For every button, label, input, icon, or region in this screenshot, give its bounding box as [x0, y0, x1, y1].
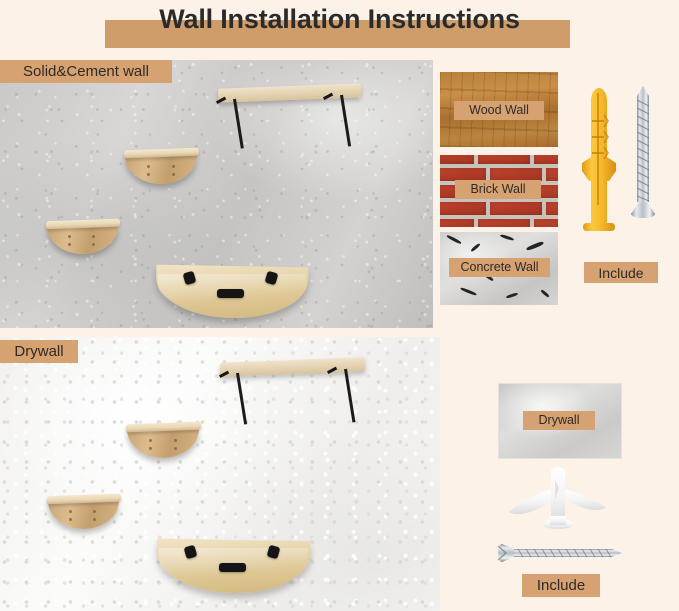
- perch-body: [127, 429, 199, 458]
- perch-screw-hole: [174, 439, 177, 442]
- cat-perch-lower: [48, 495, 119, 529]
- perch-screw-hole: [172, 165, 175, 168]
- perch-screw-hole: [149, 447, 152, 450]
- photo-solid-cement-wall: [0, 60, 433, 328]
- perch-screw-hole: [69, 518, 72, 521]
- perch-screw-hole: [174, 447, 177, 450]
- perch-screw-hole: [172, 173, 175, 176]
- perch-screw-hole: [93, 518, 96, 521]
- perch-body: [48, 501, 119, 529]
- page-title: Wall Installation Instructions: [0, 0, 679, 38]
- cat-bridge: [157, 540, 310, 593]
- perch-screw-hole: [147, 173, 150, 176]
- wall-shelf: [218, 86, 361, 144]
- perch-body: [125, 155, 197, 184]
- bridge-foot: [217, 289, 244, 298]
- perch-screw-hole: [68, 243, 71, 246]
- cat-bridge: [156, 266, 308, 318]
- perch-body: [47, 226, 118, 254]
- perch-screw-hole: [147, 165, 150, 168]
- shelf-plank: [218, 83, 361, 102]
- shelf-bracket-right: [340, 95, 351, 147]
- shelf-bracket-right: [344, 369, 355, 423]
- label-brick-wall: Brick Wall: [455, 180, 541, 199]
- perch-screw-hole: [68, 235, 71, 238]
- bridge-foot: [219, 563, 246, 572]
- label-solid-cement-wall: Solid&Cement wall: [0, 60, 172, 83]
- white-toggle-anchor-icon: [498, 466, 618, 540]
- label-wood-wall: Wood Wall: [454, 101, 544, 120]
- label-drywall-swatch: Drywall: [523, 411, 595, 430]
- cat-perch-upper: [125, 149, 197, 184]
- yellow-wall-anchor-icon: [578, 85, 620, 233]
- cat-perch-lower: [47, 220, 118, 254]
- shelf-plank: [220, 357, 365, 377]
- shelf-bracket-left: [233, 99, 243, 149]
- silver-screw-icon: [627, 80, 659, 236]
- shelf-bracket-left: [236, 373, 247, 425]
- infographic-canvas: Wall Installation Instructions: [0, 0, 679, 611]
- photo-drywall-scene: [0, 337, 440, 611]
- wall-shelf: [220, 360, 365, 420]
- label-drywall-scene: Drywall: [0, 340, 78, 363]
- label-include-top: Include: [584, 262, 658, 283]
- cat-perch-upper: [127, 423, 199, 458]
- silver-screw-icon: [484, 540, 628, 566]
- perch-screw-hole: [149, 439, 152, 442]
- perch-screw-hole: [93, 510, 96, 513]
- perch-screw-hole: [92, 235, 95, 238]
- perch-screw-hole: [92, 243, 95, 246]
- perch-screw-hole: [69, 510, 72, 513]
- label-include-bottom: Include: [522, 574, 600, 597]
- label-concrete-wall: Concrete Wall: [449, 258, 550, 277]
